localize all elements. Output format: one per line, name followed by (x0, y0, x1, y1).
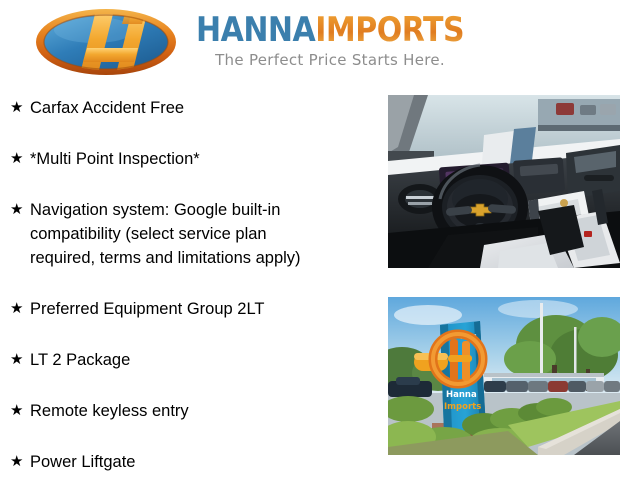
feature-item: ★Preferred Equipment Group 2LT (8, 297, 380, 321)
feature-item: ★Remote keyless entry (8, 399, 380, 423)
wordmark-imports: IMPORTS (315, 11, 464, 50)
svg-text:Hanna: Hanna (446, 390, 477, 400)
star-bullet-icon: ★ (8, 297, 30, 321)
feature-item: ★Power Liftgate (8, 450, 380, 474)
feature-label: *Multi Point Inspection* (30, 147, 200, 171)
dealership-sign-image: 3101 Hanna Imports (388, 297, 620, 455)
star-bullet-icon: ★ (8, 198, 30, 222)
feature-label: Navigation system: Google built-in compa… (30, 198, 301, 270)
star-bullet-icon: ★ (8, 96, 30, 120)
star-bullet-icon: ★ (8, 399, 30, 423)
feature-label: Carfax Accident Free (30, 96, 184, 120)
brand-tagline: The Perfect Price Starts Here. (215, 51, 445, 69)
dealership-sign-photo: 3101 Hanna Imports (388, 297, 620, 455)
star-bullet-icon: ★ (8, 147, 30, 171)
vehicle-interior-photo (388, 95, 620, 268)
svg-text:Imports: Imports (444, 402, 481, 412)
feature-item: ★Carfax Accident Free (8, 96, 380, 120)
feature-label: Remote keyless entry (30, 399, 189, 423)
brand-wordmark: HANNAIMPORTS (196, 14, 464, 48)
feature-item: ★LT 2 Package (8, 348, 380, 372)
vehicle-feature-list: ★Carfax Accident Free★*Multi Point Inspe… (8, 96, 380, 474)
star-bullet-icon: ★ (8, 348, 30, 372)
feature-item: ★Navigation system: Google built-in comp… (8, 198, 380, 270)
wordmark-block: HANNAIMPORTS The Perfect Price Starts He… (196, 6, 464, 69)
feature-label: Power Liftgate (30, 450, 135, 474)
star-bullet-icon: ★ (8, 450, 30, 474)
feature-label: LT 2 Package (30, 348, 130, 372)
feature-label: Preferred Equipment Group 2LT (30, 297, 264, 321)
vehicle-interior-image (388, 95, 620, 268)
hanna-oval-h-emblem-icon (30, 8, 182, 76)
brand-lockup: HANNAIMPORTS The Perfect Price Starts He… (30, 6, 464, 76)
feature-item: ★*Multi Point Inspection* (8, 147, 380, 171)
brand-header: HANNAIMPORTS The Perfect Price Starts He… (0, 0, 640, 88)
wordmark-hanna: HANNA (196, 11, 315, 50)
